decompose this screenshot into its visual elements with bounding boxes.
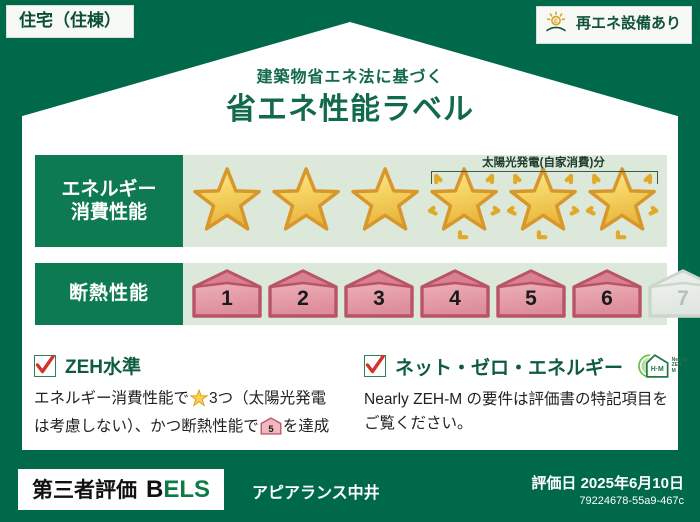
- zeh-m-logo: H·M Nearly ZEH-M: [636, 352, 687, 380]
- renewable-equipment-tag: E 再エネ設備あり: [536, 6, 692, 44]
- third-party-eval-label: 第三者評価: [32, 474, 137, 504]
- insulation-level-5: 5: [495, 269, 567, 319]
- criteria-nze-body: Nearly ZEH-M の要件は評価書の特記項目をご覧ください。: [364, 388, 669, 436]
- criteria-zeh-text-2: 3つ（太陽光発電: [209, 390, 326, 407]
- label-title: 省エネ性能ラベル: [0, 84, 700, 128]
- insulation-label: 断熱性能: [69, 282, 149, 305]
- energy-performance-row: エネルギー 消費性能 太陽光発電(自家消費)分: [35, 155, 667, 247]
- insulation-level-number: 6: [571, 269, 643, 319]
- insulation-level-6: 6: [571, 269, 643, 319]
- insulation-level-7: 7: [647, 269, 700, 319]
- energy-star-2: [268, 162, 347, 240]
- insulation-level-2: 2: [267, 269, 339, 319]
- energy-label-line2: 消費性能: [71, 201, 147, 224]
- sun-icon: E: [545, 11, 569, 38]
- eval-info: 評価日 2025年6月10日 79224678-55a9-467c: [531, 475, 684, 509]
- pv-bracket-caption: 太陽光発電(自家消費)分: [431, 154, 656, 170]
- criteria-nze-header: ネット・ゼロ・エネルギー H·M Nearly Z: [364, 352, 669, 380]
- insulation-performance-label-box: 断熱性能: [35, 263, 183, 325]
- criteria-zeh-text-1: エネルギー消費性能で: [34, 390, 189, 407]
- dwelling-type-tag: 住宅（住棟）: [6, 5, 134, 38]
- criteria-zeh-header: ZEH水準: [34, 352, 344, 379]
- svg-text:H·M: H·M: [651, 366, 664, 373]
- renewable-equipment-label: 再エネ設備あり: [576, 16, 681, 33]
- inline-star-icon: [190, 389, 208, 415]
- insulation-level-list: 1234567: [183, 263, 667, 325]
- energy-performance-label-box: エネルギー 消費性能: [35, 155, 183, 247]
- criteria-net-zero-energy: ネット・ゼロ・エネルギー H·M Nearly Z: [364, 352, 669, 436]
- bels-logo-b: B: [146, 476, 163, 503]
- energy-label-line1: エネルギー: [61, 178, 156, 201]
- check-icon: [364, 355, 386, 377]
- zeh-m-logo-subtext: Nearly ZEH-M: [672, 358, 688, 375]
- insulation-level-number: 1: [191, 269, 263, 319]
- criteria-zeh-text-4: を達成: [283, 418, 330, 435]
- criteria-zeh-title: ZEH水準: [65, 352, 141, 379]
- criteria-nze-title: ネット・ゼロ・エネルギー: [395, 353, 623, 380]
- energy-star-3: [347, 162, 426, 240]
- insulation-level-number: 5: [495, 269, 567, 319]
- insulation-level-3: 3: [343, 269, 415, 319]
- insulation-level-number: 4: [419, 269, 491, 319]
- criteria-zeh-text-3: は考慮しない）、かつ断熱性能で: [34, 418, 259, 435]
- svg-text:5: 5: [268, 424, 273, 434]
- pv-bracket: [431, 171, 658, 184]
- bels-footer-box: 第三者評価 BELS: [18, 469, 224, 510]
- insulation-level-number: 3: [343, 269, 415, 319]
- eval-id: 79224678-55a9-467c: [531, 494, 684, 509]
- insulation-level-4: 4: [419, 269, 491, 319]
- energy-performance-label: 住宅（住棟） E 再エネ設備あり 建築物省エネ法に基づく 省エネ性能ラベル: [0, 0, 700, 522]
- criteria-zeh-body: エネルギー消費性能で3つ（太陽光発電は考慮しない）、かつ断熱性能で5を達成: [34, 387, 344, 443]
- energy-stars-panel: 太陽光発電(自家消費)分: [183, 155, 667, 247]
- inline-house-badge-icon: 5: [260, 417, 282, 443]
- svg-text:E: E: [554, 19, 558, 25]
- zeh-m-sub-line2: ZEH-M: [672, 362, 684, 374]
- insulation-performance-row: 断熱性能 1234567: [35, 263, 667, 325]
- bels-logo-els: ELS: [163, 476, 210, 503]
- criteria-zeh: ZEH水準 エネルギー消費性能で3つ（太陽光発電は考慮しない）、かつ断熱性能で5…: [34, 352, 344, 443]
- eval-date: 評価日 2025年6月10日: [531, 475, 684, 494]
- insulation-levels-panel: 1234567: [183, 263, 667, 325]
- building-name: アピアランス中井: [252, 479, 380, 503]
- insulation-level-number: 7: [647, 269, 700, 319]
- insulation-level-number: 2: [267, 269, 339, 319]
- energy-star-1: [189, 162, 268, 240]
- check-icon: [34, 355, 56, 377]
- bels-logo: BELS: [146, 476, 210, 504]
- insulation-level-1: 1: [191, 269, 263, 319]
